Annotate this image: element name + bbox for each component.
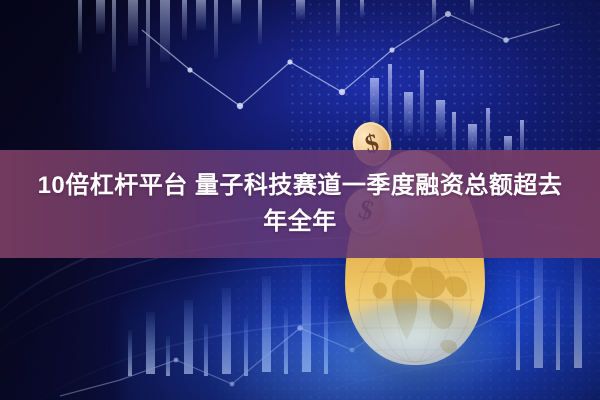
promo-banner-image: $ $ 10倍杠杆平台 量子科技赛道一季度融资总额超去 年全年 [0,0,600,400]
candlestick-group-mid [370,64,524,164]
egg-base-glow [320,301,510,396]
headline-line-2: 年全年 [263,207,337,237]
headline-line-1: 10倍杠杆平台 量子科技赛道一季度融资总额超去 [38,171,563,201]
headline-text: 10倍杠杆平台 量子科技赛道一季度融资总额超去 年全年 [0,150,600,258]
